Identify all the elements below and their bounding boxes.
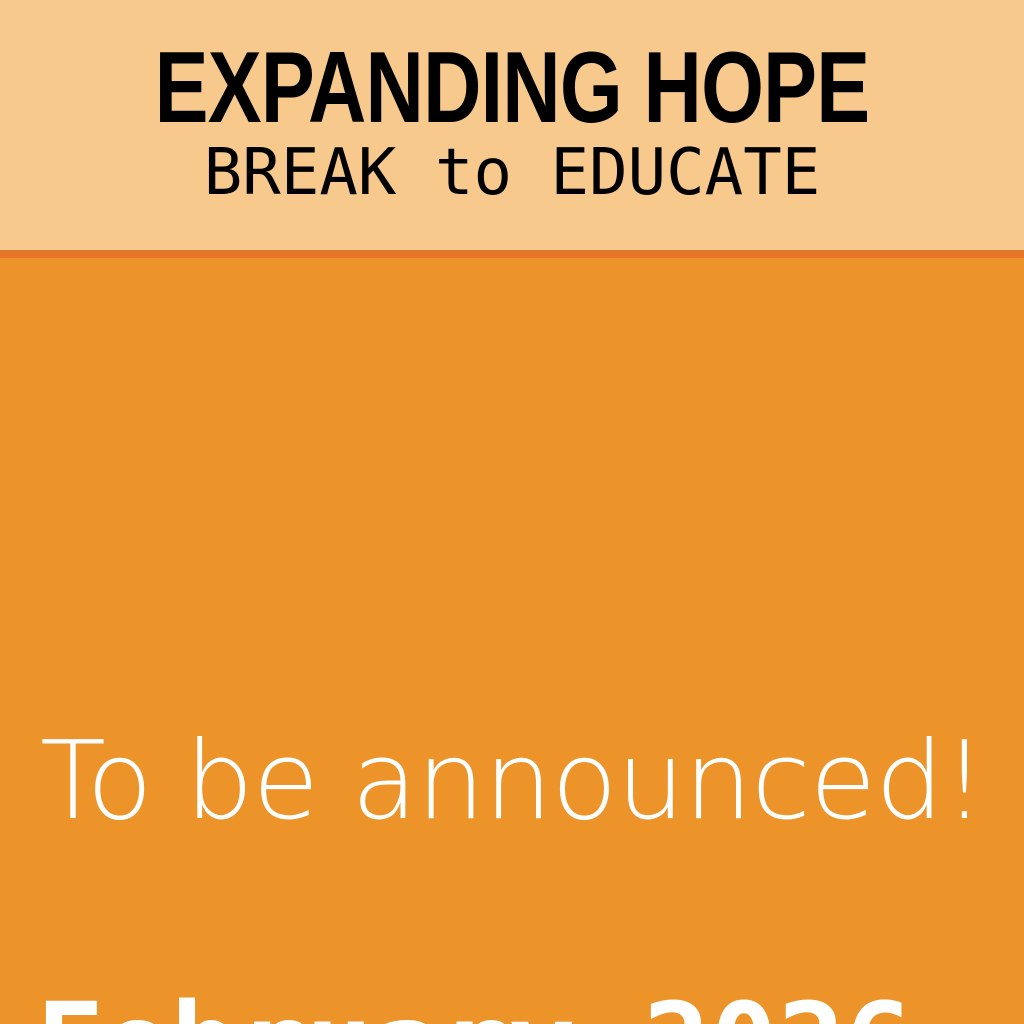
announcement-text: To be announced! — [40, 728, 985, 836]
header-band: EXPANDING HOPE BREAK to EDUCATE — [0, 0, 1024, 250]
body-panel: To be announced! February 2026 — [0, 258, 1024, 1024]
announcement-slide: EXPANDING HOPE BREAK to EDUCATE To be an… — [0, 0, 1024, 1024]
event-date: February 2026 — [36, 989, 913, 1024]
page-title: EXPANDING HOPE — [102, 38, 921, 139]
page-subtitle: BREAK to EDUCATE — [0, 141, 1024, 205]
header-divider — [0, 250, 1024, 258]
